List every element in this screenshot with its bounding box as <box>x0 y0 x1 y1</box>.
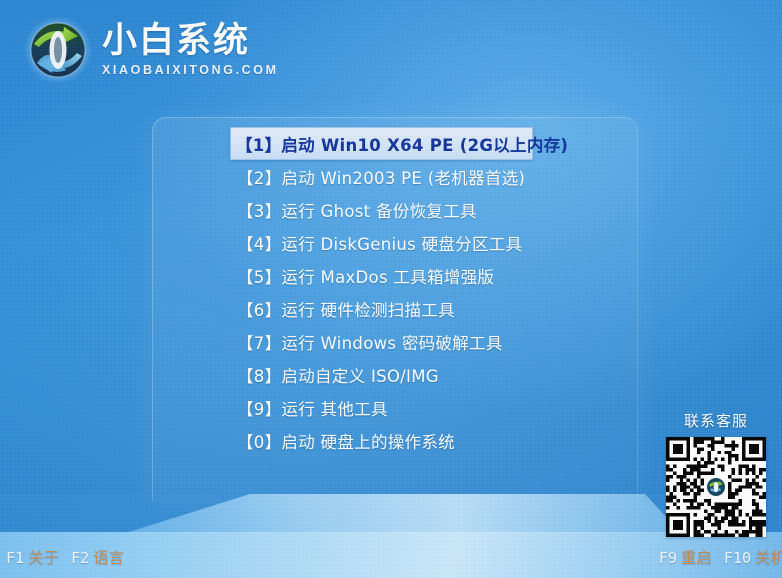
function-key-f9: F9 <box>659 549 677 567</box>
boot-menu-list[interactable]: 【1】启动 Win10 X64 PE (2G以上内存)【2】启动 Win2003… <box>232 127 552 457</box>
function-keys-right[interactable]: F9重启F10关机 <box>659 546 782 568</box>
boot-menu-screen: 小白系统 XIAOBAIXITONG.COM 【1】启动 Win10 X64 P… <box>0 0 782 578</box>
boot-menu-item-label: 【3】运行 Ghost 备份恢复工具 <box>237 198 477 222</box>
function-key-label-f10: 关机 <box>755 549 782 567</box>
boot-menu-item-3[interactable]: 【3】运行 Ghost 备份恢复工具 <box>232 193 552 226</box>
boot-menu-item-0[interactable]: 【0】启动 硬盘上的操作系统 <box>232 424 552 457</box>
qr-code-icon[interactable] <box>666 437 766 537</box>
boot-menu-item-2[interactable]: 【2】启动 Win2003 PE (老机器首选) <box>232 160 552 193</box>
boot-menu-item-6[interactable]: 【6】运行 硬件检测扫描工具 <box>232 292 552 325</box>
boot-menu-item-9[interactable]: 【9】运行 其他工具 <box>232 391 552 424</box>
support-title: 联系客服 <box>665 410 767 431</box>
qr-center-logo-icon <box>706 477 726 497</box>
function-key-f10: F10 <box>724 549 751 567</box>
brand-text-block: 小白系统 XIAOBAIXITONG.COM <box>102 23 279 77</box>
boot-menu-item-5[interactable]: 【5】运行 MaxDos 工具箱增强版 <box>232 259 552 292</box>
boot-menu-item-label: 【4】运行 DiskGenius 硬盘分区工具 <box>237 231 522 255</box>
boot-menu-item-label: 【1】启动 Win10 X64 PE (2G以上内存) <box>236 132 568 156</box>
function-key-label-f9: 重启 <box>681 549 712 567</box>
boot-menu-item-label: 【9】运行 其他工具 <box>237 396 388 420</box>
support-block: 联系客服 <box>665 410 767 537</box>
function-key-f2: F2 <box>71 549 89 567</box>
boot-menu-item-1[interactable]: 【1】启动 Win10 X64 PE (2G以上内存) <box>230 127 533 160</box>
brand-header: 小白系统 XIAOBAIXITONG.COM <box>22 14 279 86</box>
boot-menu-item-label: 【2】启动 Win2003 PE (老机器首选) <box>237 165 525 189</box>
boot-menu-item-label: 【6】运行 硬件检测扫描工具 <box>237 297 455 321</box>
boot-menu-item-4[interactable]: 【4】运行 DiskGenius 硬盘分区工具 <box>232 226 552 259</box>
boot-menu-item-7[interactable]: 【7】运行 Windows 密码破解工具 <box>232 325 552 358</box>
brand-name-cn: 小白系统 <box>102 23 279 61</box>
function-key-label-f2: 语言 <box>93 549 124 567</box>
boot-menu-item-label: 【7】运行 Windows 密码破解工具 <box>237 330 503 354</box>
boot-menu-item-8[interactable]: 【8】启动自定义 ISO/IMG <box>232 358 552 391</box>
boot-menu-item-label: 【5】运行 MaxDos 工具箱增强版 <box>237 264 494 288</box>
brand-name-en: XIAOBAIXITONG.COM <box>102 63 279 77</box>
boot-menu-item-label: 【8】启动自定义 ISO/IMG <box>237 363 439 387</box>
globe-refresh-logo-icon <box>22 14 94 86</box>
boot-menu-item-label: 【0】启动 硬盘上的操作系统 <box>237 429 455 453</box>
function-key-f1: F1 <box>6 549 24 567</box>
function-keys-left[interactable]: F1关于F2语言 <box>6 546 124 568</box>
function-key-label-f1: 关于 <box>28 549 59 567</box>
